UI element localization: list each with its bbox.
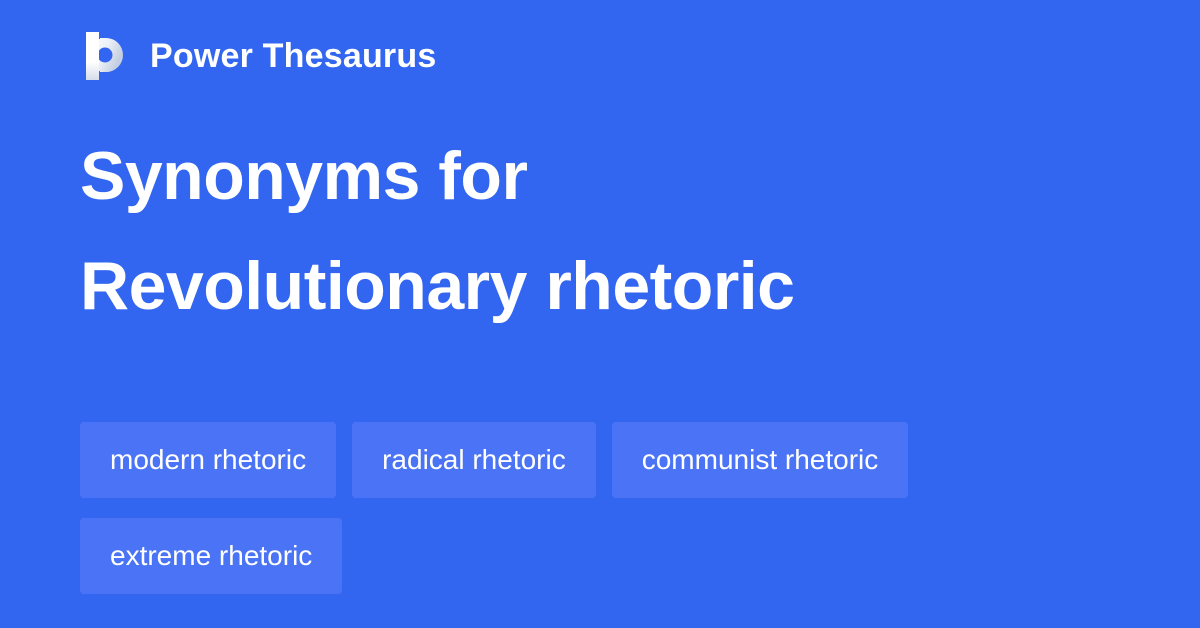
- page-title-line-2: Revolutionary rhetoric: [80, 252, 1140, 320]
- synonym-chip[interactable]: modern rhetoric: [80, 422, 336, 498]
- synonym-chip[interactable]: communist rhetoric: [612, 422, 909, 498]
- share-card: Power Thesaurus Synonyms for Revolutiona…: [0, 0, 1200, 628]
- synonym-chip[interactable]: extreme rhetoric: [80, 518, 342, 594]
- brand-header[interactable]: Power Thesaurus: [80, 28, 436, 84]
- brand-name: Power Thesaurus: [150, 39, 436, 73]
- synonym-chip[interactable]: radical rhetoric: [352, 422, 596, 498]
- page-title: Synonyms for Revolutionary rhetoric: [80, 142, 1140, 320]
- page-title-line-1: Synonyms for: [80, 142, 1140, 210]
- power-thesaurus-b-logo-icon: [80, 30, 128, 82]
- synonym-chip-list: modern rhetoric radical rhetoric communi…: [80, 422, 1140, 594]
